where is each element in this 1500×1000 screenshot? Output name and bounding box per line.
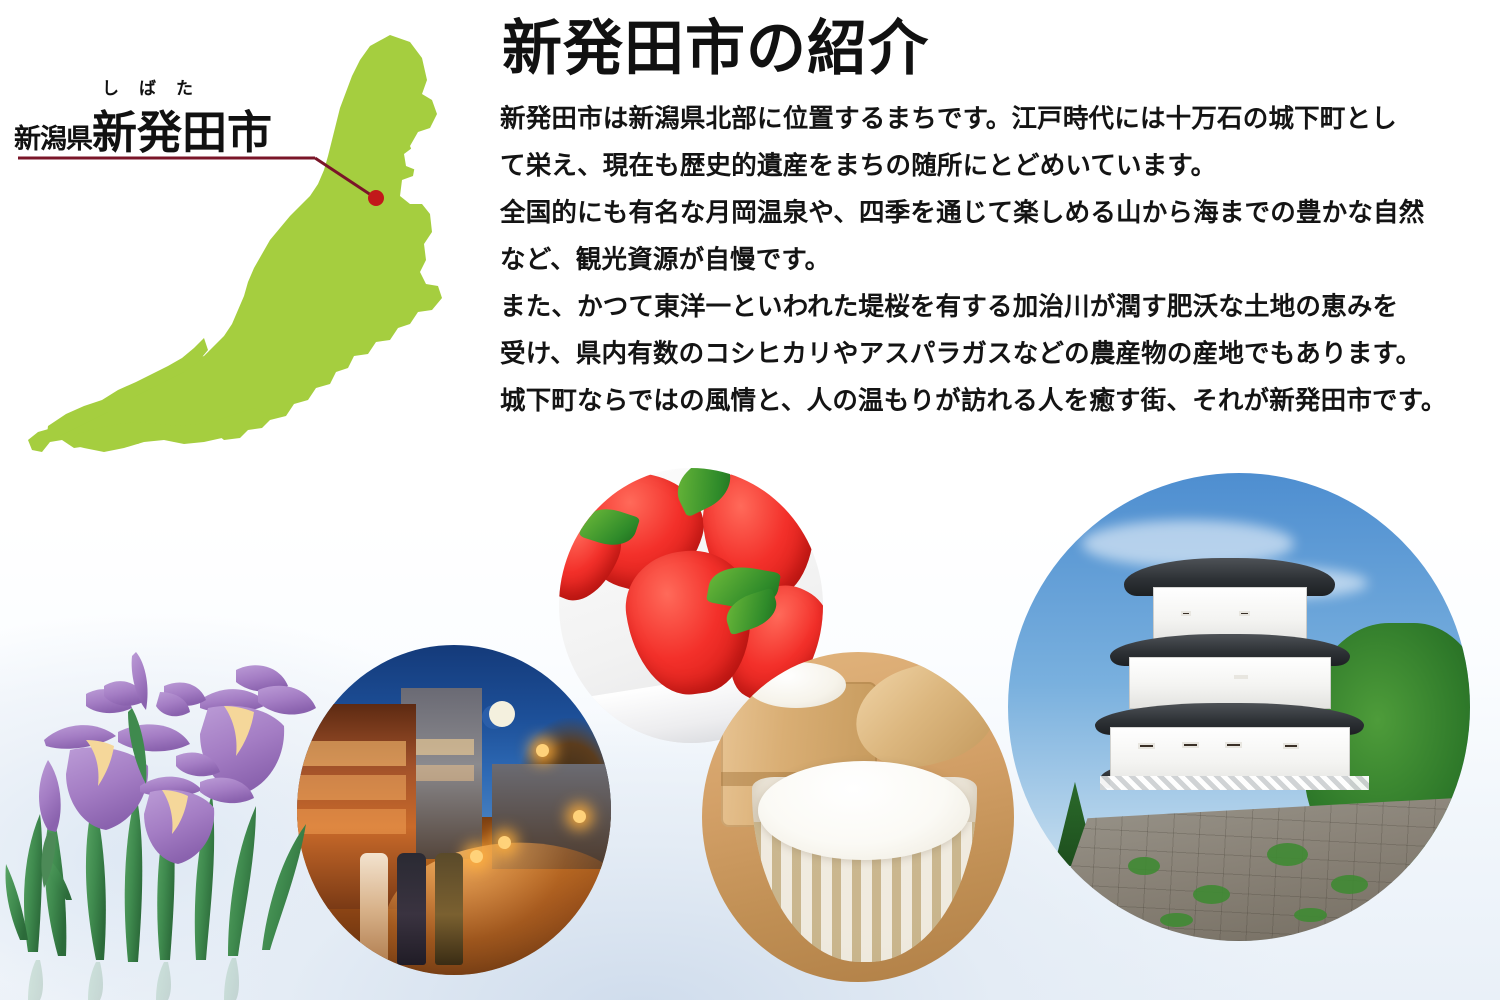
wall-bush	[1160, 913, 1192, 927]
photo-onsen-street	[297, 645, 611, 975]
intro-line: 全国的にも有名な月岡温泉や、四季を通じて楽しめる山から海までの豊かな自然	[500, 189, 1475, 236]
castle-window	[1239, 611, 1250, 616]
iris-reflection	[28, 958, 239, 1000]
photo-rice-bowl	[702, 652, 1014, 982]
intro-line: て栄え、現在も歴史的遺産をまちの随所にとどめいています。	[500, 142, 1475, 189]
page-title: 新発田市の紹介	[502, 18, 1475, 81]
intro-block: 新発田市の紹介 新発田市は新潟県北部に位置するまちです。江戸時代には十万石の城下…	[500, 18, 1475, 424]
city-label: 新発田市	[92, 108, 272, 158]
intro-line: また、かつて東洋一といわれた堤桜を有する加治川が潤す肥沃な土地の恵みを	[500, 283, 1475, 330]
castle-window	[1225, 742, 1242, 748]
wall-bush	[1193, 885, 1230, 904]
castle-window	[1138, 743, 1155, 749]
street-lamp-icon	[536, 744, 549, 757]
intro-line: 城下町ならではの風情と、人の温もりが訪れる人を癒す街、それが新発田市です。	[500, 377, 1475, 424]
iris-flower-right-upper	[156, 665, 316, 794]
intro-line: 新発田市は新潟県北部に位置するまちです。江戸時代には十万石の城下町とし	[500, 95, 1475, 142]
prefecture-label: 新潟県	[14, 124, 92, 154]
poster-root: しばた 新潟県新発田市 新発田市の紹介 新発田市は新潟県北部に位置するまちです。…	[0, 0, 1500, 1000]
intro-line: など、観光資源が自慢です。	[500, 236, 1475, 283]
intro-line: 受け、県内有数のコシヒカリやアスパラガスなどの農産物の産地でもあります。	[500, 330, 1475, 377]
yukata-visitor	[360, 853, 388, 965]
castle-window	[1234, 675, 1248, 680]
castle-tier-base	[1110, 727, 1350, 791]
map-block: しばた 新潟県新発田市	[0, 0, 480, 500]
castle-window	[1283, 743, 1300, 749]
crescent-moon	[489, 701, 515, 727]
castle-window	[1181, 611, 1192, 616]
city-label-ruby: しばた	[102, 74, 213, 99]
castle-window	[1182, 742, 1199, 748]
yukata-visitor	[435, 853, 463, 965]
wall-bush	[1267, 843, 1309, 866]
intro-paragraph: 新発田市は新潟県北部に位置するまちです。江戸時代には十万石の城下町とし て栄え、…	[500, 95, 1475, 424]
prefecture-city-label: しばた 新潟県新発田市	[14, 96, 334, 161]
castle-tier-middle	[1129, 657, 1331, 709]
photo-shibata-castle	[1008, 473, 1470, 941]
iris-illustration	[0, 600, 330, 1000]
castle-keep	[1110, 553, 1350, 843]
yukata-visitor	[397, 853, 425, 965]
street-lamp-icon	[470, 850, 483, 863]
city-marker-dot	[368, 190, 384, 206]
rice-in-ohitsu	[746, 662, 846, 708]
cooked-white-rice	[758, 761, 970, 860]
namako-wall-pattern	[1100, 776, 1369, 790]
